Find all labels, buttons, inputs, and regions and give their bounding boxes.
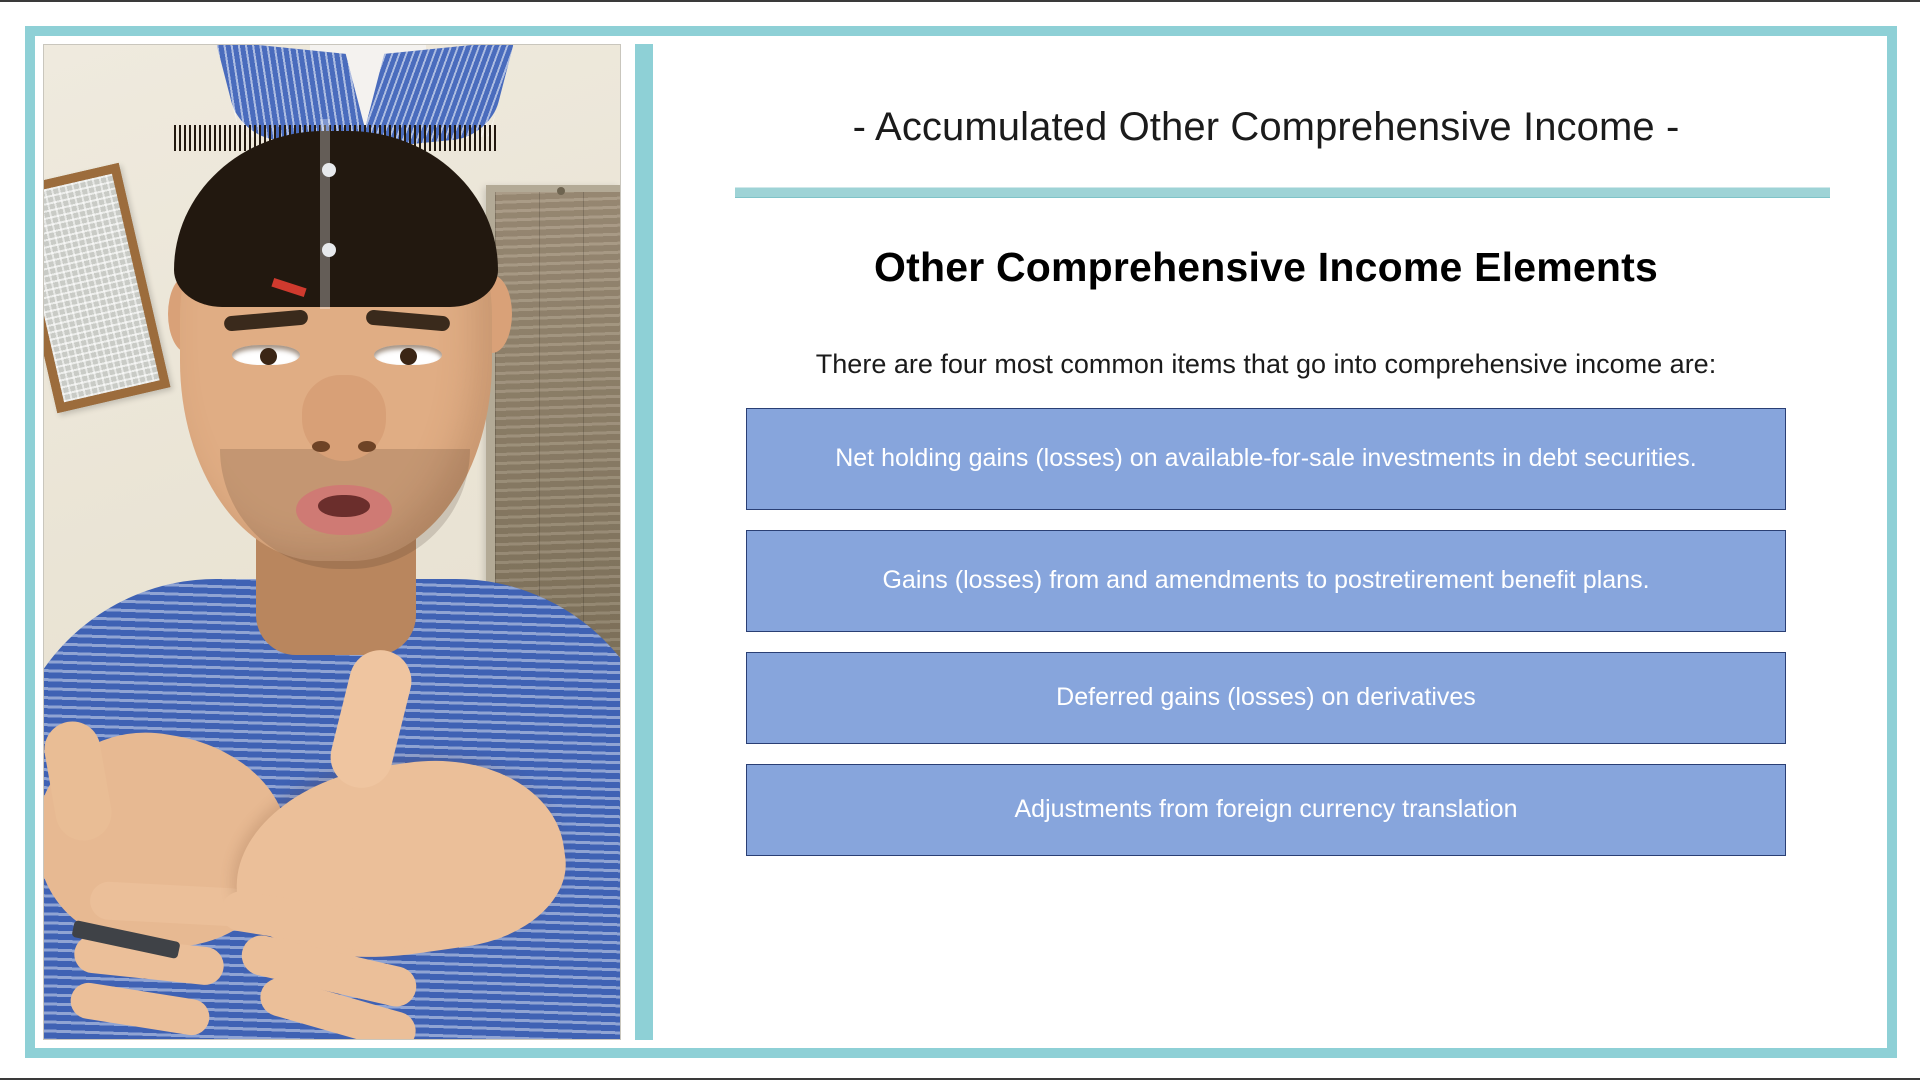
title-divider-rule bbox=[735, 187, 1830, 198]
shirt-placket bbox=[320, 119, 330, 309]
presenter-webcam-feed[interactable] bbox=[43, 44, 621, 1040]
presenter-mouth-opening bbox=[318, 495, 370, 517]
teal-frame: - Accumulated Other Comprehensive Income… bbox=[25, 26, 1897, 1058]
presenter-nostril-right bbox=[358, 441, 376, 452]
presenter-hair bbox=[174, 131, 498, 307]
slide-content-panel: - Accumulated Other Comprehensive Income… bbox=[635, 44, 1879, 1040]
slide-title: - Accumulated Other Comprehensive Income… bbox=[735, 104, 1797, 150]
shirt-button-upper bbox=[322, 163, 336, 177]
presenter-pupil-left bbox=[260, 348, 277, 365]
list-item[interactable]: Net holding gains (losses) on available-… bbox=[746, 408, 1786, 510]
slide-lead-text: There are four most common items that go… bbox=[735, 349, 1797, 380]
slide-inner: - Accumulated Other Comprehensive Income… bbox=[653, 104, 1879, 1080]
presenter bbox=[44, 45, 620, 1039]
list-item[interactable]: Deferred gains (losses) on derivatives bbox=[746, 652, 1786, 744]
list-item[interactable]: Gains (losses) from and amendments to po… bbox=[746, 530, 1786, 632]
presenter-pupil-right bbox=[400, 348, 417, 365]
stage-inner: - Accumulated Other Comprehensive Income… bbox=[35, 36, 1887, 1048]
list-item[interactable]: Adjustments from foreign currency transl… bbox=[746, 764, 1786, 856]
video-panel[interactable] bbox=[43, 44, 621, 1040]
presenter-nostril-left bbox=[312, 441, 330, 452]
shirt-button-lower bbox=[322, 243, 336, 257]
slide-page: - Accumulated Other Comprehensive Income… bbox=[0, 0, 1920, 1080]
page-rule-top bbox=[0, 0, 1920, 2]
slide-heading: Other Comprehensive Income Elements bbox=[735, 244, 1797, 291]
comprehensive-income-items-list: Net holding gains (losses) on available-… bbox=[735, 408, 1797, 856]
